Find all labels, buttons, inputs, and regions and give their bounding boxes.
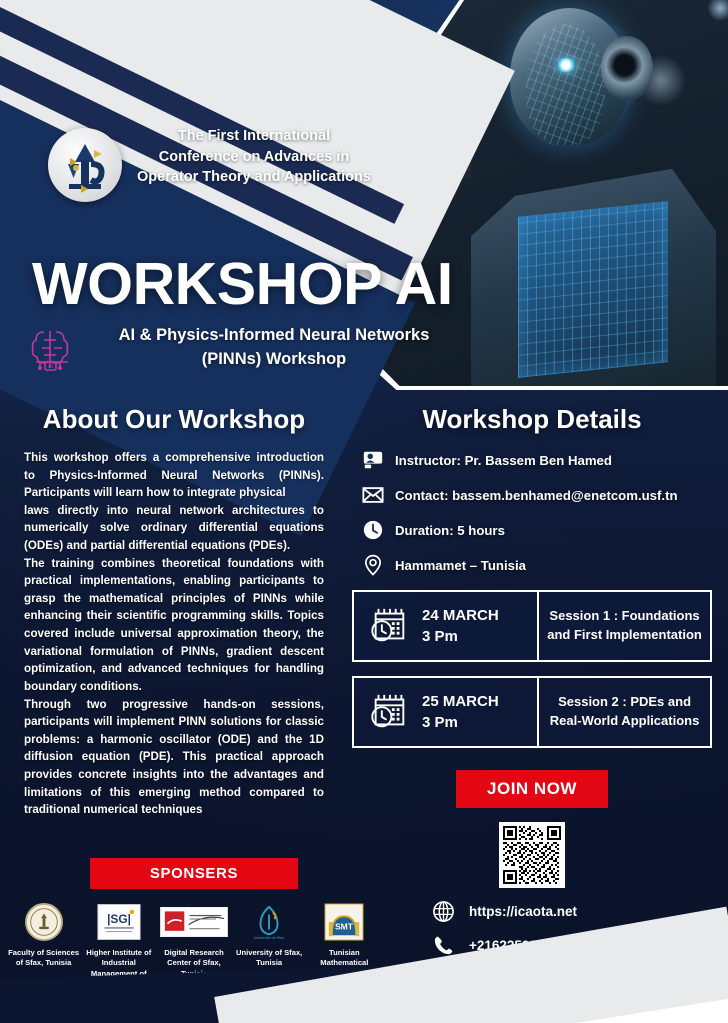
conference-logo-mark — [48, 128, 122, 202]
about-body: This workshop offers a comprehensive int… — [24, 449, 324, 819]
session-date: 24 MARCH — [422, 605, 499, 626]
workshop-poster: The First International Conference on Ad… — [0, 0, 728, 1023]
detail-label: Duration: 5 hours — [395, 523, 505, 538]
session-title: Session 2 : PDEs and Real-World Applicat… — [539, 678, 710, 746]
session-time: 3 Pm — [422, 626, 499, 647]
digital-research-center-sfax-logo — [158, 902, 230, 942]
about-paragraph: laws directly into neural network archit… — [24, 502, 324, 555]
about-heading: About Our Workshop — [24, 404, 324, 435]
session-datetime: 24 MARCH 3 Pm — [422, 605, 499, 647]
about-paragraph: This workshop offers a comprehensive int… — [24, 449, 324, 502]
session-time: 3 Pm — [422, 712, 499, 733]
sponsor-caption: University of Sfax, Tunisia — [233, 948, 305, 969]
sponsor-caption: Faculty of Sciences of Sfax, Tunisia — [8, 948, 80, 969]
conference-title: The First International Conference on Ad… — [136, 118, 372, 188]
details-section: Workshop Details Instructor: Pr. Bassem … — [352, 404, 712, 888]
subtitle-row: AI AI & Physics-Informed Neural Networks… — [26, 322, 466, 374]
registration-qr-code[interactable] — [499, 822, 565, 888]
phone-icon — [432, 934, 455, 957]
page-title: WORKSHOP AI — [32, 250, 453, 318]
qr-code-image — [503, 826, 561, 884]
session-card[interactable]: 25 MARCH 3 Pm Session 2 : PDEs and Real-… — [352, 676, 712, 748]
faculty-of-sciences-sfax-logo — [8, 902, 80, 942]
svg-text:SMT: SMT — [335, 922, 354, 932]
clock-icon — [362, 519, 384, 541]
globe-icon — [432, 900, 455, 923]
details-heading: Workshop Details — [352, 404, 712, 435]
svg-text:Université de Sfax: Université de Sfax — [254, 936, 285, 940]
svg-text:AI: AI — [48, 364, 53, 370]
detail-contact: Contact: bassem.benhamed@enetcom.usf.tn — [352, 484, 712, 506]
isgi-logo: |SG| — [83, 902, 155, 942]
join-now-button[interactable]: JOIN NOW — [456, 770, 608, 808]
detail-label: Contact: bassem.benhamed@enetcom.usf.tn — [395, 488, 678, 503]
about-paragraph: Through two progressive hands-on session… — [24, 696, 324, 819]
ai-brain-circuit-icon: AI — [26, 322, 78, 374]
detail-duration: Duration: 5 hours — [352, 519, 712, 541]
detail-instructor: Instructor: Pr. Bassem Ben Hamed — [352, 449, 712, 471]
svg-text:|SG|: |SG| — [107, 912, 131, 926]
poster-header: The First International Conference on Ad… — [0, 118, 400, 202]
calendar-clock-icon — [368, 691, 410, 733]
session-card[interactable]: 24 MARCH 3 Pm Session 1 : Foundations an… — [352, 590, 712, 662]
university-of-sfax-logo: Université de Sfax — [233, 902, 305, 942]
icaota-conference-logo — [48, 128, 122, 202]
session-date-block: 24 MARCH 3 Pm — [354, 592, 539, 660]
detail-location: Hammamet – Tunisia — [352, 554, 712, 576]
calendar-clock-icon — [368, 605, 410, 647]
location-pin-icon — [362, 554, 384, 576]
detail-label: Instructor: Pr. Bassem Ben Hamed — [395, 453, 612, 468]
session-datetime: 25 MARCH 3 Pm — [422, 691, 499, 733]
about-paragraph: The training combines theoretical founda… — [24, 555, 324, 696]
contact-website[interactable]: https://icaota.net — [432, 900, 611, 923]
session-date-block: 25 MARCH 3 Pm — [354, 678, 539, 746]
session-title: Session 1 : Foundations and First Implem… — [539, 592, 710, 660]
presenter-screen-icon — [362, 449, 384, 471]
sponsors-banner: SPONSERS — [90, 858, 298, 889]
contact-text: https://icaota.net — [469, 904, 577, 919]
detail-label: Hammamet – Tunisia — [395, 558, 526, 573]
about-section: About Our Workshop This workshop offers … — [24, 404, 324, 819]
workshop-subtitle: AI & Physics-Informed Neural Networks (P… — [88, 324, 460, 372]
tunisian-mathematical-society-logo: SMT — [308, 902, 380, 942]
session-date: 25 MARCH — [422, 691, 499, 712]
envelope-icon — [362, 484, 384, 506]
